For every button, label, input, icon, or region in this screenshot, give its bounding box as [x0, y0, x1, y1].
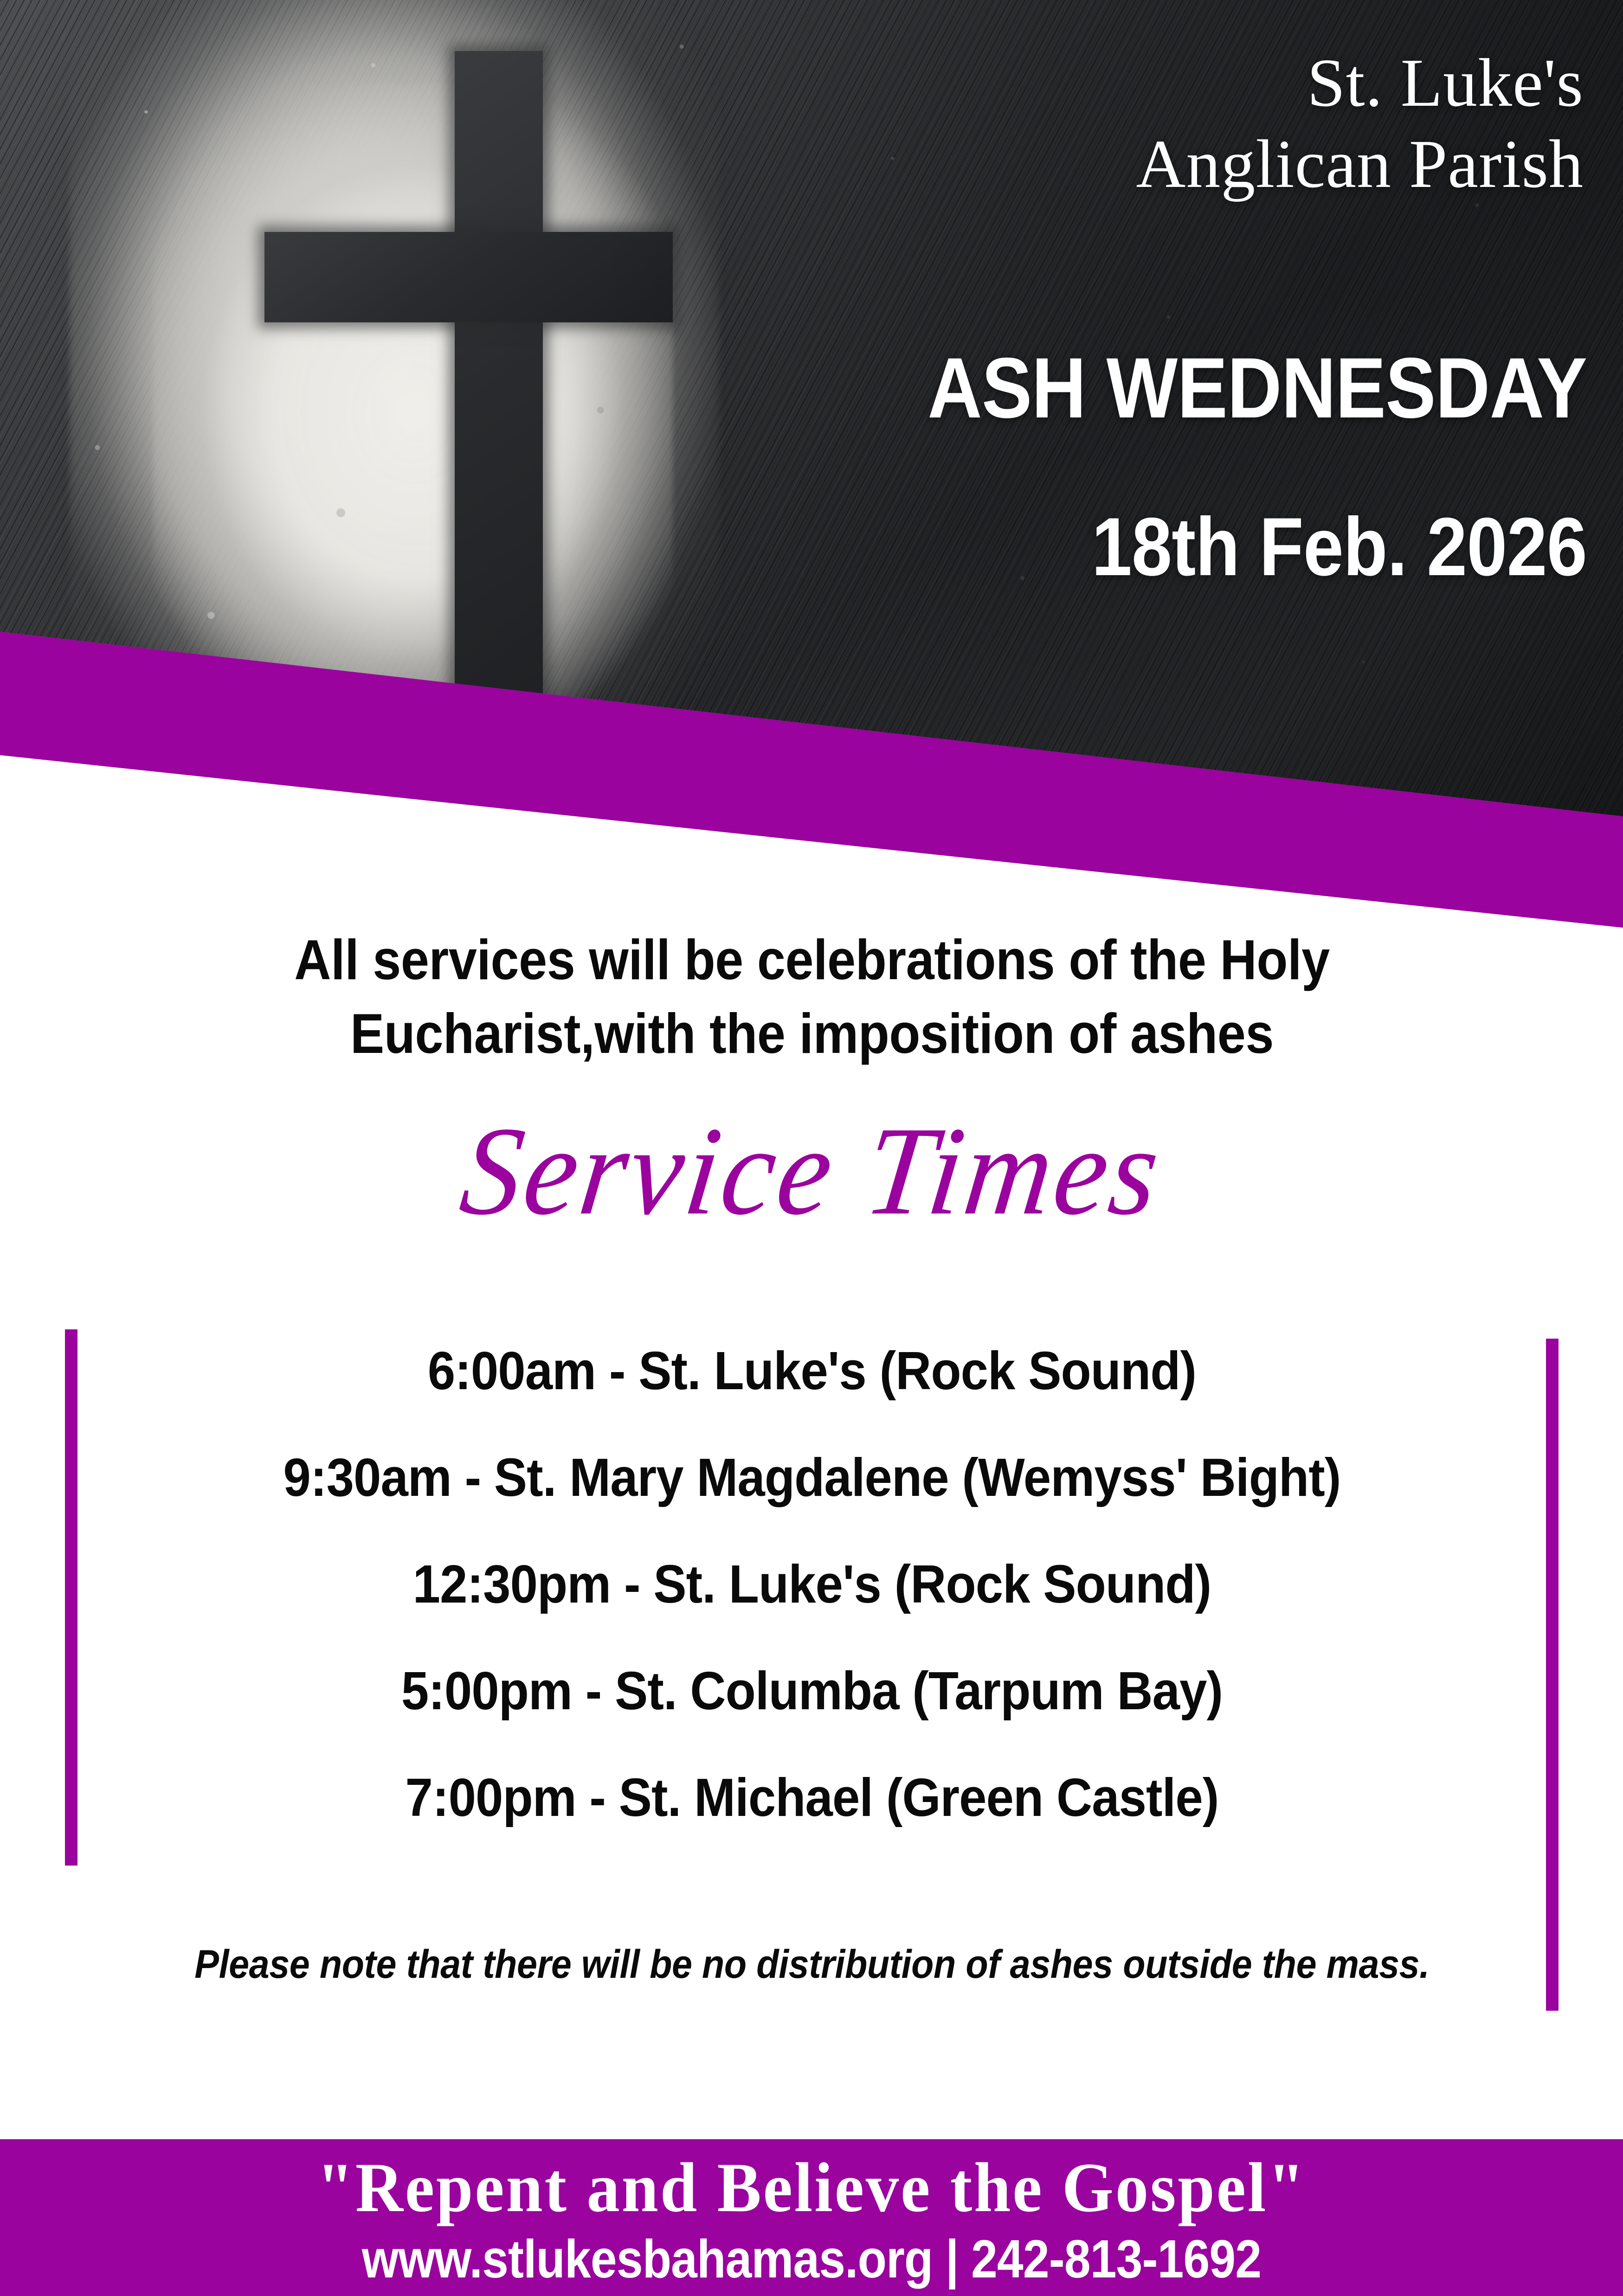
footer-contact[interactable]: www.stlukesbahamas.org | 242-813-1692 [97, 2232, 1526, 2286]
parish-name-line-2: Anglican Parish [702, 130, 1584, 199]
service-times-heading: Service Times [0, 1107, 1623, 1234]
footer-quote: "Repent and Believe the Gospel" [49, 2152, 1574, 2223]
intro-text: All services will be celebrations of the… [223, 923, 1401, 1070]
event-date: 18th Feb. 2026 [791, 506, 1587, 588]
service-list-item: 7:00pm - St. Michael (Green Castle) [133, 1744, 1491, 1851]
service-list-item: 5:00pm - St. Columba (Tarpum Bay) [133, 1637, 1491, 1744]
service-list-item: 6:00am - St. Luke's (Rock Sound) [133, 1317, 1491, 1424]
service-times-list: 6:00am - St. Luke's (Rock Sound) 9:30am … [74, 1317, 1550, 1851]
service-list-item: 9:30am - St. Mary Magdalene (Wemyss' Big… [133, 1424, 1491, 1531]
ash-wednesday-flyer: St. Luke's Anglican Parish ASH WEDNESDAY… [0, 0, 1623, 2296]
footer-banner: "Repent and Believe the Gospel" www.stlu… [0, 2139, 1623, 2296]
event-title: ASH WEDNESDAY [791, 346, 1587, 431]
ashes-distribution-note: Please note that there will be no distri… [193, 1939, 1431, 1990]
service-list-item: 12:30pm - St. Luke's (Rock Sound) [133, 1531, 1491, 1637]
parish-name-line-1: St. Luke's [702, 49, 1584, 117]
